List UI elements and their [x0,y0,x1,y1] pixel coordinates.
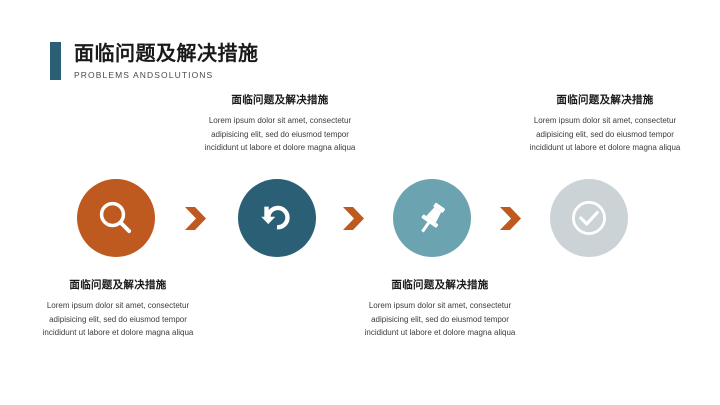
process-flow-row [0,179,720,259]
flow-step-4-check[interactable] [550,179,628,257]
slide-canvas: 面临问题及解决措施 PROBLEMS ANDSOLUTIONS 面临问题及解决措… [0,0,720,405]
title-accent-bar [50,42,61,80]
body-line: Lorem ipsum dolor sit amet, consectetur [3,299,233,313]
text-block-step-4: 面临问题及解决措施 Lorem ipsum dolor sit amet, co… [490,93,720,155]
body-line: Lorem ipsum dolor sit amet, consectetur [165,114,395,128]
body-line: Lorem ipsum dolor sit amet, consectetur [490,114,720,128]
text-block-step-3: 面临问题及解决措施 Lorem ipsum dolor sit amet, co… [325,278,555,340]
text-block-step-2: 面临问题及解决措施 Lorem ipsum dolor sit amet, co… [165,93,395,155]
body-line: incididunt ut labore et dolore magna ali… [325,326,555,340]
flow-arrow-3 [499,206,525,231]
undo-arrow-icon [256,197,298,239]
text-block-step-1: 面临问题及解决措施 Lorem ipsum dolor sit amet, co… [3,278,233,340]
text-block-heading: 面临问题及解决措施 [165,93,395,108]
chevron-right-icon [184,206,210,231]
page-subtitle: PROBLEMS ANDSOLUTIONS [74,69,259,82]
text-block-body: Lorem ipsum dolor sit amet, consectetur … [490,114,720,155]
body-line: adipisicing elit, sed do eiusmod tempor [3,313,233,327]
body-line: adipisicing elit, sed do eiusmod tempor [325,313,555,327]
text-block-body: Lorem ipsum dolor sit amet, consectetur … [3,299,233,340]
title-text-wrap: 面临问题及解决措施 PROBLEMS ANDSOLUTIONS [74,42,259,82]
text-block-body: Lorem ipsum dolor sit amet, consectetur … [165,114,395,155]
text-block-heading: 面临问题及解决措施 [3,278,233,293]
check-circle-icon [567,196,611,240]
body-line: incididunt ut labore et dolore magna ali… [3,326,233,340]
body-line: incididunt ut labore et dolore magna ali… [490,141,720,155]
chevron-right-icon [342,206,368,231]
flow-arrow-1 [184,206,210,231]
body-line: incididunt ut labore et dolore magna ali… [165,141,395,155]
pushpin-icon [412,198,452,238]
search-icon [95,197,137,239]
body-line: adipisicing elit, sed do eiusmod tempor [165,128,395,142]
slide-title-block: 面临问题及解决措施 PROBLEMS ANDSOLUTIONS [50,42,259,82]
flow-arrow-2 [342,206,368,231]
body-line: adipisicing elit, sed do eiusmod tempor [490,128,720,142]
text-block-heading: 面临问题及解决措施 [325,278,555,293]
flow-step-1-search[interactable] [77,179,155,257]
text-block-body: Lorem ipsum dolor sit amet, consectetur … [325,299,555,340]
text-block-heading: 面临问题及解决措施 [490,93,720,108]
flow-step-2-undo[interactable] [238,179,316,257]
body-line: Lorem ipsum dolor sit amet, consectetur [325,299,555,313]
page-title: 面临问题及解决措施 [74,42,259,66]
flow-step-3-pushpin[interactable] [393,179,471,257]
chevron-right-icon [499,206,525,231]
